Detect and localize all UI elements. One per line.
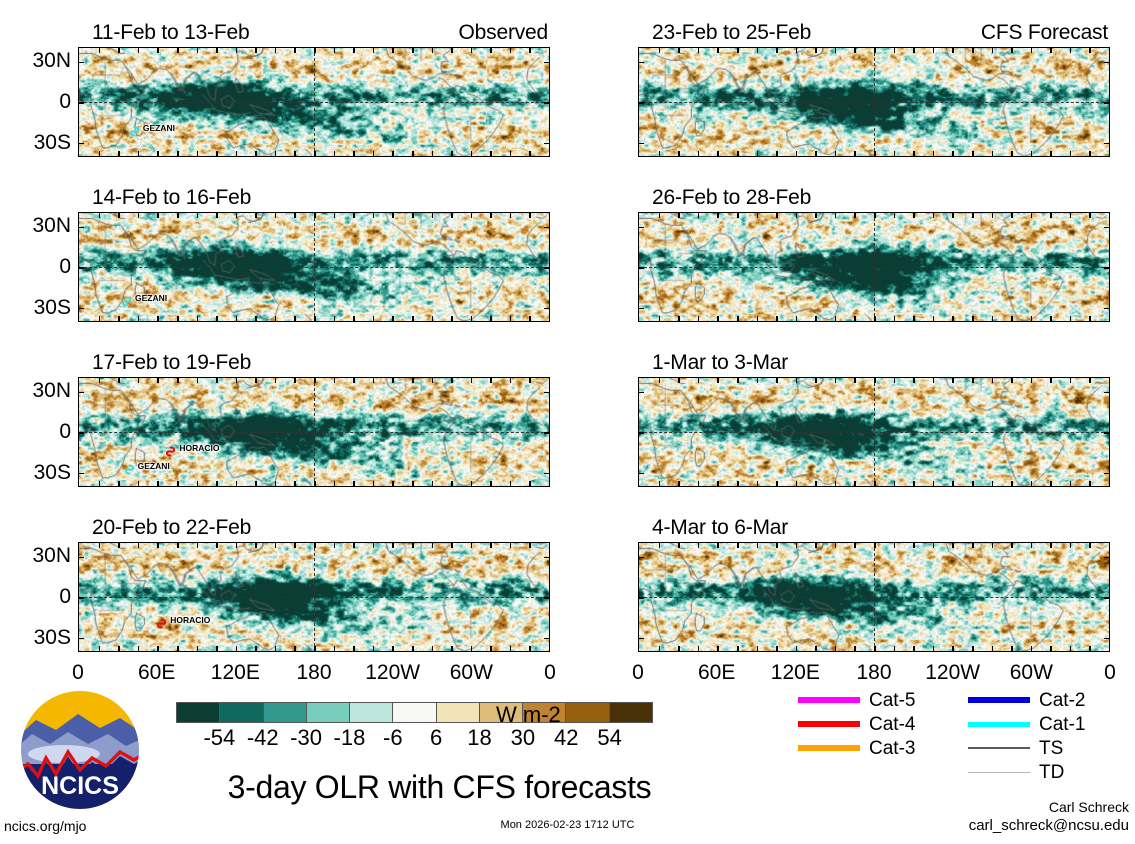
x-tick [197, 48, 199, 53]
x-tick [392, 48, 394, 53]
x-tick [118, 151, 120, 156]
x-tick [874, 316, 876, 321]
x-tick [432, 151, 434, 156]
x-tick [412, 316, 414, 321]
x-tick [373, 151, 375, 156]
x-tick [717, 213, 719, 218]
x-tick [275, 543, 277, 548]
x-tick [992, 378, 994, 383]
x-tick [678, 151, 680, 156]
y-tick [1104, 597, 1109, 599]
x-tick [99, 151, 101, 156]
x-tick [815, 378, 817, 383]
x-tick [99, 213, 101, 218]
column-header-right: CFS Forecast [981, 22, 1108, 43]
colorbar-segment-0 [177, 703, 220, 722]
x-tick [294, 543, 296, 548]
x-tick [717, 543, 719, 548]
column-header-left: Observed [459, 22, 548, 43]
x-tick [255, 316, 257, 321]
x-tick [471, 48, 473, 53]
x-tick [490, 481, 492, 486]
x-tick [835, 481, 837, 486]
x-tick [255, 481, 257, 486]
x-tick [757, 481, 759, 486]
x-tick [1031, 151, 1033, 156]
x-tick [835, 316, 837, 321]
x-tick [216, 48, 218, 53]
x-tick [1070, 213, 1072, 218]
y-tick [639, 143, 644, 145]
legend-item-cat-5: Cat-5 [798, 688, 915, 712]
x-tick [118, 316, 120, 321]
colorbar-segment-6 [437, 703, 480, 722]
x-tick [737, 151, 739, 156]
x-tick [776, 151, 778, 156]
x-tick [236, 481, 238, 486]
x-tick [412, 213, 414, 218]
x-tick [933, 151, 935, 156]
x-tick [854, 543, 856, 548]
x-tick [913, 316, 915, 321]
dateline [874, 48, 875, 156]
olr-panel-p3: 17-Feb to 19-FebGEZANIHORACIO30N030S [78, 352, 550, 487]
x-tick [294, 316, 296, 321]
x-tick [659, 48, 661, 53]
x-tick [776, 316, 778, 321]
y-tick [639, 308, 644, 310]
x-tick [392, 213, 394, 218]
x-tick [1070, 378, 1072, 383]
x-tick [118, 213, 120, 218]
x-tick [1070, 316, 1072, 321]
x-tick [216, 213, 218, 218]
x-tick [373, 48, 375, 53]
x-tick [972, 213, 974, 218]
colorbar-segment-1 [220, 703, 263, 722]
panel-title-p6: 26-Feb to 28-Feb [652, 187, 811, 208]
x-tick [1050, 543, 1052, 548]
x-tick [913, 151, 915, 156]
y-tick [1104, 557, 1109, 559]
y-tick [79, 102, 84, 104]
cyclone-icon [124, 461, 133, 470]
x-tick [392, 543, 394, 548]
x-tick [992, 48, 994, 53]
x-tick [392, 378, 394, 383]
colorbar-strip [176, 702, 653, 723]
x-tick [1089, 378, 1091, 383]
olr-map-p5 [638, 47, 1110, 157]
x-tick [815, 481, 817, 486]
x-tick [776, 48, 778, 53]
y-tick [79, 143, 84, 145]
legend-line-swatch [798, 721, 860, 727]
x-tick [992, 543, 994, 548]
legend-item-ts: TS [968, 736, 1085, 760]
y-axis-label: 0 [11, 256, 71, 277]
colorbar-segment-9 [566, 703, 609, 722]
x-tick [1031, 48, 1033, 53]
y-tick [1104, 473, 1109, 475]
panel-title-p3: 17-Feb to 19-Feb [92, 352, 251, 373]
dateline [314, 378, 315, 486]
y-tick [1104, 432, 1109, 434]
x-tick [157, 213, 159, 218]
x-tick [314, 543, 316, 548]
dateline [314, 213, 315, 321]
x-tick [451, 543, 453, 548]
x-tick [353, 481, 355, 486]
x-tick [678, 378, 680, 383]
x-tick [757, 151, 759, 156]
x-tick [138, 316, 140, 321]
colorbar-tick-label: 54 [597, 727, 621, 749]
x-tick [353, 543, 355, 548]
legend-label: Cat-3 [869, 739, 915, 758]
x-tick [373, 543, 375, 548]
x-tick [432, 48, 434, 53]
x-tick [992, 481, 994, 486]
x-tick [874, 378, 876, 383]
x-tick [471, 481, 473, 486]
x-tick [1089, 481, 1091, 486]
x-tick [490, 543, 492, 548]
x-tick [698, 48, 700, 53]
x-tick [432, 378, 434, 383]
y-tick [544, 308, 549, 310]
x-tick [659, 316, 661, 321]
y-tick [79, 227, 84, 229]
colorbar-tick-label: 30 [511, 727, 535, 749]
cyclone-icon [122, 294, 131, 303]
x-tick [373, 316, 375, 321]
x-tick [678, 543, 680, 548]
x-tick [1070, 48, 1072, 53]
x-tick [334, 48, 336, 53]
x-tick [177, 213, 179, 218]
x-tick [373, 481, 375, 486]
x-tick [451, 48, 453, 53]
x-tick [698, 151, 700, 156]
x-tick [314, 316, 316, 321]
x-tick [334, 543, 336, 548]
x-tick [992, 213, 994, 218]
x-tick [432, 543, 434, 548]
x-tick [510, 543, 512, 548]
x-tick [99, 48, 101, 53]
x-tick [952, 151, 954, 156]
legend-line-swatch [968, 697, 1030, 703]
x-tick [1050, 481, 1052, 486]
storm-label: GEZANI [135, 294, 167, 303]
x-tick [659, 151, 661, 156]
olr-panel-p7: 1-Mar to 3-Mar [638, 352, 1110, 487]
colorbar-tick-label: 6 [430, 727, 442, 749]
x-tick [275, 48, 277, 53]
x-tick [1070, 151, 1072, 156]
colorbar-segment-3 [307, 703, 350, 722]
cyclone-icon [129, 123, 138, 132]
x-tick [334, 316, 336, 321]
x-tick [314, 151, 316, 156]
olr-map-p1: GEZANI [78, 47, 550, 157]
panel-title-p7: 1-Mar to 3-Mar [652, 352, 788, 373]
x-tick [698, 543, 700, 548]
x-tick [314, 481, 316, 486]
x-tick [334, 213, 336, 218]
olr-map-p6 [638, 212, 1110, 322]
y-tick [639, 557, 644, 559]
panel-title-p8: 4-Mar to 6-Mar [652, 517, 788, 538]
x-tick [1089, 213, 1091, 218]
colorbar-tick-label: 18 [467, 727, 491, 749]
x-tick [1070, 543, 1072, 548]
x-tick [294, 213, 296, 218]
x-tick [894, 378, 896, 383]
x-tick [412, 48, 414, 53]
x-tick [894, 481, 896, 486]
x-tick [353, 151, 355, 156]
x-tick [255, 378, 257, 383]
x-tick [1011, 378, 1013, 383]
colorbar-tick-label: 42 [554, 727, 578, 749]
y-tick [1104, 308, 1109, 310]
storm-label: HORACIO [179, 444, 219, 453]
y-tick [1104, 267, 1109, 269]
y-tick [544, 267, 549, 269]
x-tick [236, 378, 238, 383]
x-tick [1011, 543, 1013, 548]
x-tick [529, 48, 531, 53]
y-tick [79, 432, 84, 434]
x-tick [236, 543, 238, 548]
x-tick [236, 316, 238, 321]
figure-footer: NCICS ncics.org/mjo -54-42-30-18-6618304… [0, 630, 1135, 844]
y-tick [544, 557, 549, 559]
x-tick [737, 316, 739, 321]
legend-line-swatch [798, 697, 860, 703]
x-tick [334, 481, 336, 486]
x-tick [776, 213, 778, 218]
x-tick [737, 543, 739, 548]
legend-item-cat-1: Cat-1 [968, 712, 1085, 736]
x-tick [972, 316, 974, 321]
x-tick [874, 151, 876, 156]
x-tick [737, 213, 739, 218]
x-tick [294, 48, 296, 53]
x-tick [236, 213, 238, 218]
x-tick [99, 378, 101, 383]
olr-map-p3: GEZANIHORACIO [78, 377, 550, 487]
x-tick [1089, 48, 1091, 53]
x-tick [314, 48, 316, 53]
x-tick [835, 213, 837, 218]
x-tick [177, 378, 179, 383]
x-tick [854, 151, 856, 156]
x-tick [776, 481, 778, 486]
y-tick [544, 597, 549, 599]
x-tick [933, 378, 935, 383]
x-tick [157, 378, 159, 383]
x-tick [392, 316, 394, 321]
x-tick [197, 481, 199, 486]
x-tick [913, 543, 915, 548]
x-tick [854, 48, 856, 53]
colorbar-segment-10 [610, 703, 652, 722]
y-tick [1104, 227, 1109, 229]
x-tick [815, 213, 817, 218]
x-tick [1089, 543, 1091, 548]
x-tick [854, 378, 856, 383]
x-tick [757, 213, 759, 218]
legend-item-cat-2: Cat-2 [968, 688, 1085, 712]
x-tick [698, 213, 700, 218]
panel-title-p1: 11-Feb to 13-Feb [92, 22, 250, 43]
olr-panel-p1: 11-Feb to 13-FebObservedGEZANI30N030S [78, 22, 550, 157]
x-tick [157, 316, 159, 321]
x-tick [1050, 316, 1052, 321]
x-tick [490, 316, 492, 321]
x-tick [913, 48, 915, 53]
dateline [874, 378, 875, 486]
y-axis-label: 30N [11, 545, 71, 566]
panel-title-p4: 20-Feb to 22-Feb [92, 517, 251, 538]
x-tick [138, 213, 140, 218]
figure-title-text: 3-day OLR with CFS forecasts [228, 770, 652, 804]
x-tick [510, 378, 512, 383]
x-tick [471, 151, 473, 156]
legend-label: Cat-5 [869, 691, 915, 710]
panel-title-p2: 14-Feb to 16-Feb [92, 187, 251, 208]
x-tick [216, 378, 218, 383]
y-axis-label: 30N [11, 50, 71, 71]
x-tick [894, 48, 896, 53]
x-tick [216, 481, 218, 486]
x-tick [138, 543, 140, 548]
x-tick [529, 378, 531, 383]
x-tick [678, 48, 680, 53]
author-email[interactable]: carl_schreck@ncsu.edu [969, 818, 1129, 834]
y-tick [79, 392, 84, 394]
x-tick [1050, 151, 1052, 156]
y-axis-label: 0 [11, 421, 71, 442]
x-tick [490, 151, 492, 156]
legend-item-cat-3: Cat-3 [798, 736, 915, 760]
x-tick [255, 151, 257, 156]
x-tick [157, 543, 159, 548]
y-axis-label: 30S [11, 297, 71, 318]
x-tick [874, 481, 876, 486]
olr-panel-p5: 23-Feb to 25-FebCFS Forecast [638, 22, 1110, 157]
x-tick [1011, 316, 1013, 321]
x-tick [510, 481, 512, 486]
x-tick [118, 48, 120, 53]
x-tick [1070, 481, 1072, 486]
x-tick [894, 316, 896, 321]
olr-map-p7 [638, 377, 1110, 487]
x-tick [854, 316, 856, 321]
x-tick [529, 543, 531, 548]
x-tick [815, 316, 817, 321]
x-tick [952, 316, 954, 321]
x-tick [854, 481, 856, 486]
x-tick [1031, 316, 1033, 321]
x-tick [933, 481, 935, 486]
y-axis-label: 30S [11, 132, 71, 153]
x-tick [659, 378, 661, 383]
y-tick [639, 473, 644, 475]
x-tick [471, 378, 473, 383]
x-tick [197, 543, 199, 548]
x-tick [1089, 316, 1091, 321]
x-tick [197, 378, 199, 383]
x-tick [815, 543, 817, 548]
colorbar-tick-label: -18 [334, 727, 366, 749]
y-tick [544, 432, 549, 434]
x-tick [275, 213, 277, 218]
legend-label: Cat-2 [1039, 691, 1085, 710]
x-tick [99, 543, 101, 548]
x-tick [529, 316, 531, 321]
cyclone-icon [157, 615, 166, 624]
panel-grid: 11-Feb to 13-FebObservedGEZANI30N030S14-… [0, 0, 1135, 630]
x-tick [698, 481, 700, 486]
x-tick [1031, 481, 1033, 486]
x-tick [99, 316, 101, 321]
x-tick [776, 543, 778, 548]
y-tick [79, 473, 84, 475]
x-tick [334, 151, 336, 156]
y-tick [639, 432, 644, 434]
y-axis-label: 30S [11, 462, 71, 483]
x-tick [933, 213, 935, 218]
x-tick [913, 378, 915, 383]
x-tick [1031, 543, 1033, 548]
x-tick [510, 48, 512, 53]
x-tick [874, 48, 876, 53]
x-tick [275, 378, 277, 383]
y-tick [639, 597, 644, 599]
x-tick [698, 316, 700, 321]
x-tick [392, 151, 394, 156]
legend-line-swatch [798, 745, 860, 751]
x-tick [353, 48, 355, 53]
x-tick [1011, 48, 1013, 53]
x-tick [933, 48, 935, 53]
x-tick [510, 213, 512, 218]
x-tick [236, 151, 238, 156]
legend-label: Cat-4 [869, 715, 915, 734]
colorbar: -54-42-30-18-6618304254 [176, 702, 656, 753]
x-tick [118, 481, 120, 486]
colorbar-ticklabels: -54-42-30-18-6618304254 [176, 723, 656, 753]
x-tick [197, 213, 199, 218]
x-tick [314, 378, 316, 383]
x-tick [529, 151, 531, 156]
y-axis-label: 30N [11, 380, 71, 401]
y-tick [544, 227, 549, 229]
colorbar-tick-label: -42 [247, 727, 279, 749]
x-tick [451, 213, 453, 218]
x-tick [717, 316, 719, 321]
x-tick [835, 378, 837, 383]
x-tick [717, 151, 719, 156]
x-tick [432, 316, 434, 321]
x-tick [972, 543, 974, 548]
x-tick [294, 151, 296, 156]
x-tick [972, 481, 974, 486]
